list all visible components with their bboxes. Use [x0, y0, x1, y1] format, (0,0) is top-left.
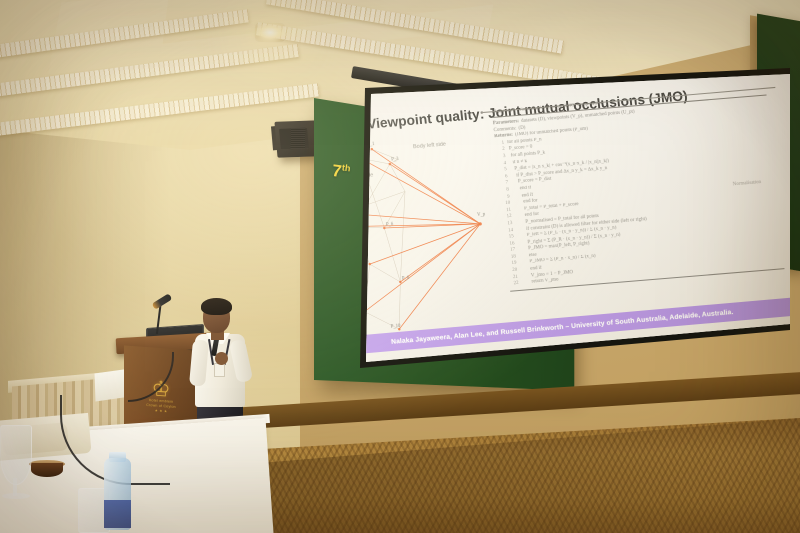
algorithm-lines: 1for all points P_n2P_score = 03for all …: [495, 119, 784, 289]
diagram-point-label: P_8: [402, 275, 410, 281]
bottle-label: [104, 500, 131, 528]
diagram-point-label: P_6: [386, 221, 394, 227]
name-badge: [214, 363, 225, 377]
diagram-point-label: P_3: [391, 156, 399, 162]
ceiling-light-icon: [255, 23, 285, 42]
presentation-slide: Viewpoint quality: Joint mutual occlusio…: [338, 68, 790, 368]
wine-glass: [0, 425, 32, 485]
diagram-apex-label: V_p: [477, 211, 486, 217]
diagram-point-label: P_10: [390, 323, 400, 329]
conference-room-photo: 7th ti W r Viewpoint quality: Joint mutu…: [0, 0, 800, 533]
presenter-hair: [201, 298, 232, 315]
wine-glass-foot: [2, 493, 30, 499]
snack-bowl: [31, 463, 63, 477]
projection-screen: Viewpoint quality: Joint mutual occlusio…: [338, 68, 790, 368]
banner-ordinal: 7th: [331, 161, 351, 183]
presenter-hand: [215, 352, 228, 365]
algorithm-block: Algorithm 1 Joint mutual occlusion (JMO)…: [491, 86, 784, 294]
